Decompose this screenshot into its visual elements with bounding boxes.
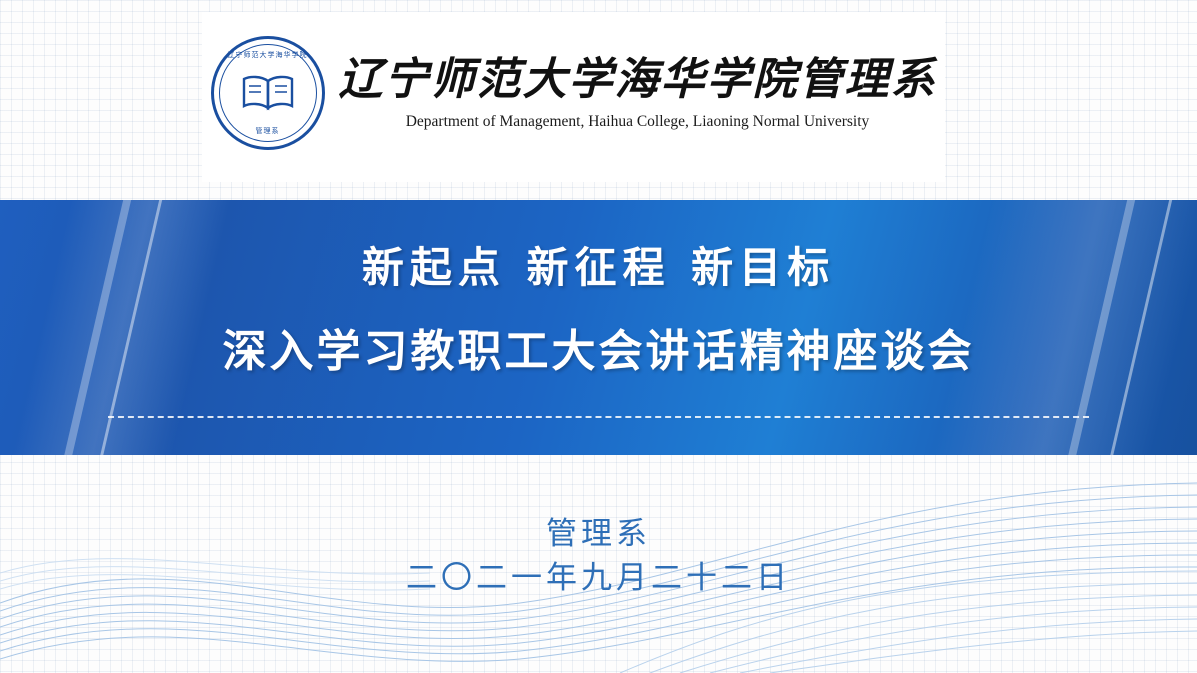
- seal-top-text: 辽宁师范大学海华学院: [214, 50, 322, 60]
- university-seal-emblem-icon: 辽宁师范大学海华学院 管理系: [211, 36, 325, 150]
- title-banner: 新起点 新征程 新目标 深入学习教职工大会讲话精神座谈会: [0, 200, 1197, 455]
- logo-text-block: 辽宁师范大学海华学院管理系 Department of Management, …: [339, 55, 937, 132]
- banner-dashed-divider: [108, 416, 1089, 418]
- banner-subtitle: 深入学习教职工大会讲话精神座谈会: [0, 315, 1197, 379]
- footer-department: 管理系: [0, 515, 1197, 554]
- slide-canvas: 辽宁师范大学海华学院 管理系 辽宁师范大学海华学院管理系 Department …: [0, 0, 1197, 673]
- logo-chinese-name: 辽宁师范大学海华学院管理系: [339, 55, 937, 106]
- logo-panel: 辽宁师范大学海华学院 管理系 辽宁师范大学海华学院管理系 Department …: [202, 12, 945, 182]
- logo-inner: 辽宁师范大学海华学院 管理系 辽宁师范大学海华学院管理系 Department …: [211, 36, 937, 150]
- footer-text-block: 管理系 二〇二一年九月二十二日: [0, 515, 1197, 600]
- logo-english-name: Department of Management, Haihua College…: [406, 113, 870, 131]
- seal-bottom-text: 管理系: [214, 126, 322, 136]
- banner-title: 新起点 新征程 新目标: [0, 234, 1197, 295]
- footer-date: 二〇二一年九月二十二日: [0, 558, 1197, 600]
- open-book-icon: [241, 74, 295, 112]
